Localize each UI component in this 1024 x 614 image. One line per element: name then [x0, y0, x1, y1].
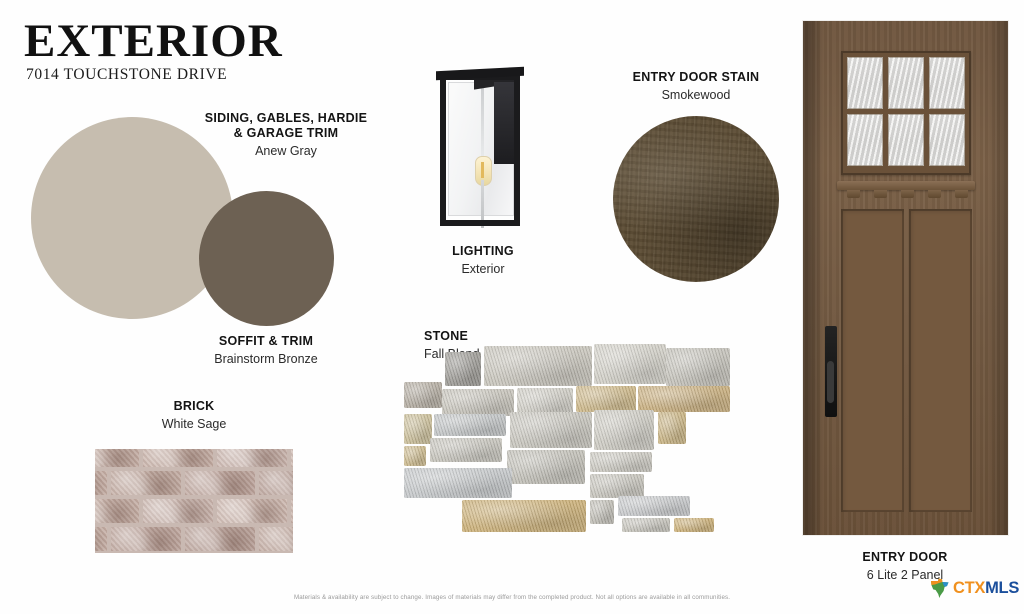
brick-unit — [143, 499, 213, 523]
entry-door-stain-swatch — [613, 116, 779, 282]
fixture-filament — [481, 162, 484, 178]
brick-unit — [111, 527, 181, 551]
brick-unit — [259, 527, 293, 551]
door-pane-6 — [929, 114, 965, 166]
stone-unit — [507, 450, 585, 484]
stain-label-group: ENTRY DOOR STAIN Smokewood — [596, 70, 796, 104]
soffit-label-group: SOFFIT & TRIM Brainstorm Bronze — [160, 334, 372, 368]
brick-unit — [291, 449, 293, 467]
fixture-stem-upper — [481, 80, 484, 158]
brick-unit — [111, 471, 181, 495]
stone-unit — [576, 386, 636, 412]
disclaimer-text: Materials & availability are subject to … — [0, 594, 1024, 601]
page-title: EXTERIOR — [24, 18, 283, 65]
soffit-caption: SOFFIT & TRIM — [160, 334, 372, 349]
brick-label-group: BRICK White Sage — [110, 399, 278, 433]
stone-unit — [638, 386, 730, 412]
stone-unit — [590, 500, 614, 524]
stone-unit — [430, 438, 502, 462]
brick-unit — [217, 449, 287, 467]
door-panel-left — [841, 209, 904, 512]
fixture-frame-left — [440, 74, 446, 226]
stone-unit — [658, 412, 686, 444]
brick-value: White Sage — [110, 416, 278, 433]
stone-unit — [462, 500, 586, 532]
door-dentil-4 — [928, 190, 941, 198]
stone-unit — [622, 518, 670, 532]
lighting-value: Exterior — [400, 261, 566, 278]
fixture-frame-right — [514, 74, 520, 226]
brick-unit — [95, 449, 139, 467]
stain-wood-grain — [613, 116, 779, 282]
siding-value: Anew Gray — [170, 143, 402, 160]
selection-board: EXTERIOR 7014 TOUCHSTONE DRIVE SIDING, G… — [0, 0, 1024, 614]
entry-door-photo — [803, 21, 1008, 535]
brick-unit — [185, 471, 255, 495]
stone-unit — [404, 446, 426, 466]
entry-door-caption: ENTRY DOOR — [820, 550, 990, 565]
stone-unit — [674, 518, 714, 532]
brick-unit — [259, 471, 293, 495]
ctxmls-text-secondary: MLS — [985, 579, 1019, 597]
fixture-frame-bottom — [440, 220, 520, 226]
siding-label-group: SIDING, GABLES, HARDIE & GARAGE TRIM Ane… — [170, 111, 402, 160]
soffit-color-swatch — [199, 191, 334, 326]
brick-caption: BRICK — [110, 399, 278, 414]
ctxmls-text-primary: CTX — [953, 579, 985, 597]
stone-unit — [442, 389, 514, 416]
lighting-label-group: LIGHTING Exterior — [400, 244, 566, 278]
stone-unit — [666, 348, 730, 386]
door-pane-1 — [847, 57, 883, 109]
siding-caption-line2: & GARAGE TRIM — [170, 126, 402, 141]
brick-unit — [95, 527, 107, 551]
brick-unit — [95, 471, 107, 495]
door-dentil-2 — [874, 190, 887, 198]
stone-material-swatch — [404, 342, 734, 532]
brick-material-swatch — [95, 449, 293, 553]
brick-unit — [291, 499, 293, 523]
stone-unit — [404, 414, 432, 444]
stone-unit — [590, 452, 652, 472]
siding-caption-line1: SIDING, GABLES, HARDIE — [170, 111, 402, 126]
soffit-value: Brainstorm Bronze — [160, 351, 372, 368]
stain-caption: ENTRY DOOR STAIN — [596, 70, 796, 85]
stone-unit — [594, 344, 666, 384]
ctxmls-wordmark: CTXMLS — [953, 579, 1019, 598]
door-dentil-3 — [901, 190, 914, 198]
door-dentil-5 — [955, 190, 968, 198]
door-pane-3 — [929, 57, 965, 109]
stain-value: Smokewood — [596, 87, 796, 104]
ctxmls-watermark: CTXMLS — [930, 575, 1022, 601]
stone-unit — [594, 410, 654, 450]
stone-unit — [445, 352, 481, 386]
address-subtitle: 7014 TOUCHSTONE DRIVE — [26, 66, 227, 84]
lighting-caption: LIGHTING — [400, 244, 566, 259]
door-dentil-shelf — [837, 181, 975, 190]
stone-unit — [618, 496, 690, 516]
stone-unit — [484, 346, 592, 386]
brick-unit — [217, 499, 287, 523]
stone-unit — [434, 414, 506, 436]
stone-unit — [590, 474, 644, 498]
door-pane-4 — [847, 114, 883, 166]
door-pane-2 — [888, 57, 924, 109]
door-handle-lever[interactable] — [827, 361, 834, 403]
texas-map-icon — [930, 577, 950, 599]
door-panel-right — [909, 209, 972, 512]
stone-unit — [404, 468, 512, 498]
door-dentil-1 — [847, 190, 860, 198]
stone-unit — [510, 412, 592, 448]
lighting-fixture-photo — [434, 60, 532, 228]
door-pane-5 — [888, 114, 924, 166]
brick-unit — [143, 449, 213, 467]
brick-unit — [185, 527, 255, 551]
brick-unit — [95, 499, 139, 523]
stone-unit — [404, 382, 442, 408]
